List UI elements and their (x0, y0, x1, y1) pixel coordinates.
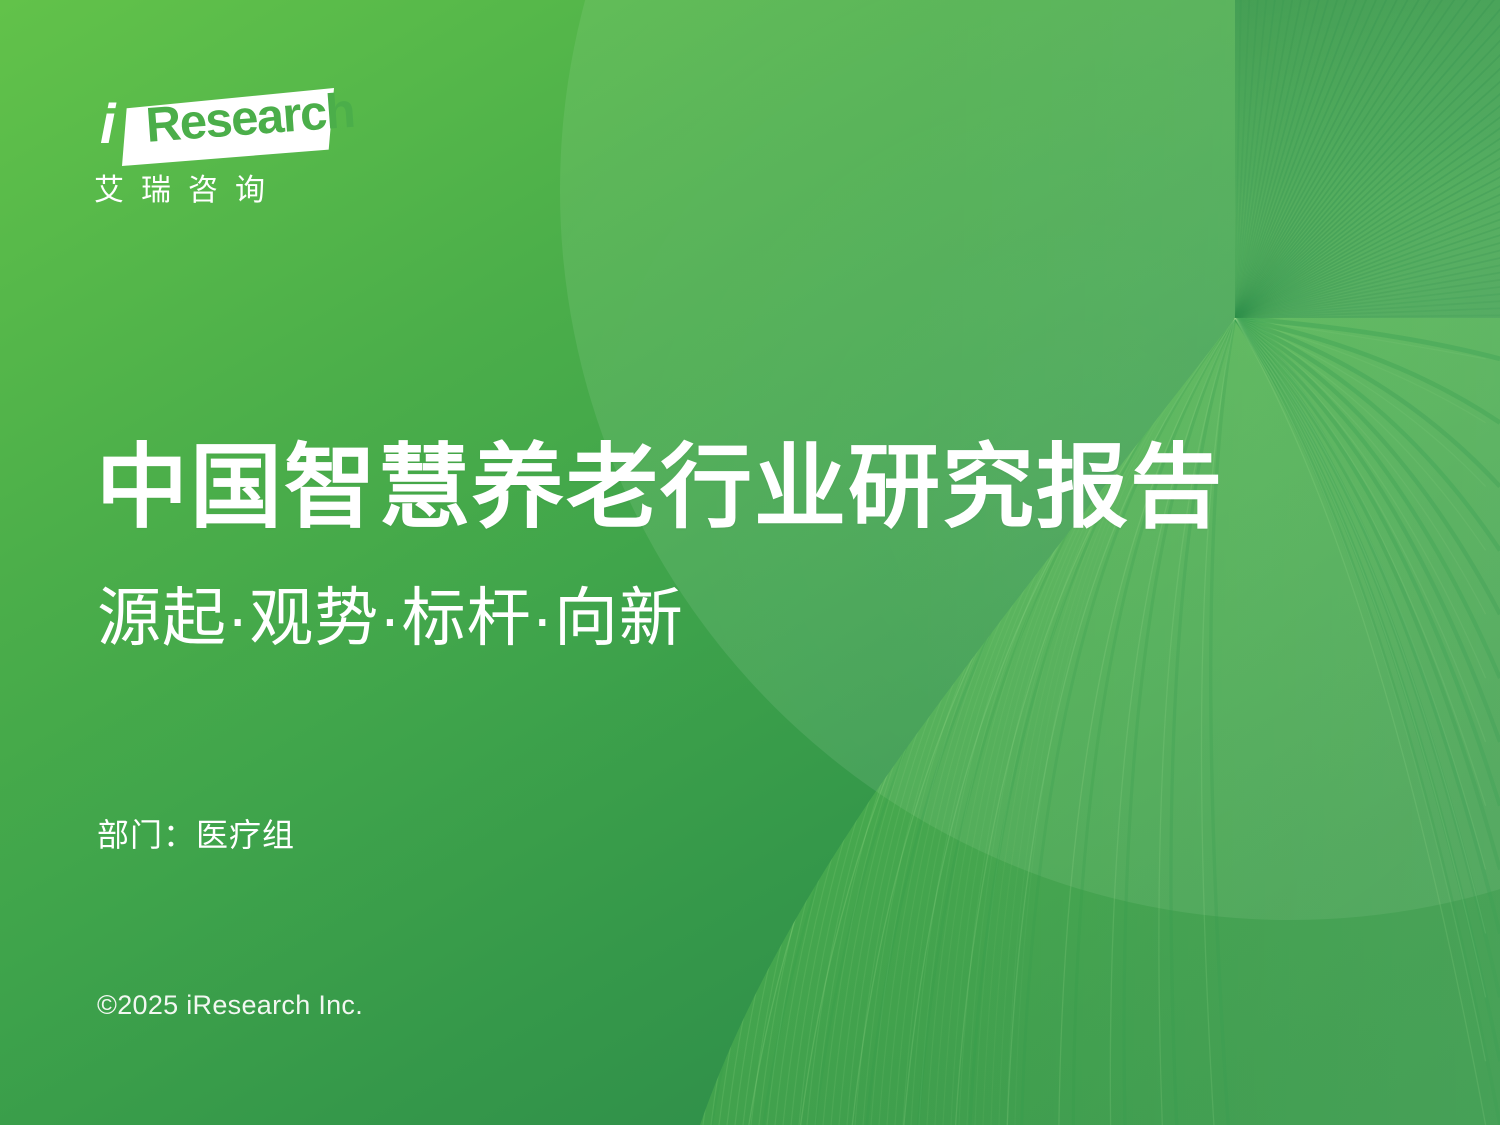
logo-chinese-name: 艾瑞咨询 (94, 174, 282, 208)
page-title: 中国智慧养老行业研究报告 (96, 436, 1224, 540)
background-pattern (0, 0, 1500, 1125)
cover-slide: i Research 艾瑞咨询 中国智慧养老行业研究报告 源起·观势·标杆·向新… (0, 0, 1500, 1125)
department-label: 部门：医疗组 (97, 814, 295, 856)
iresearch-logo: i Research 艾瑞咨询 (92, 88, 432, 166)
page-subtitle: 源起·观势·标杆·向新 (97, 579, 684, 657)
logo-mark: i Research (92, 88, 332, 166)
edge-light (900, 0, 1500, 1125)
logo-i-glyph: i (100, 96, 115, 152)
copyright-notice: ©2025 iResearch Inc. (97, 988, 363, 1022)
